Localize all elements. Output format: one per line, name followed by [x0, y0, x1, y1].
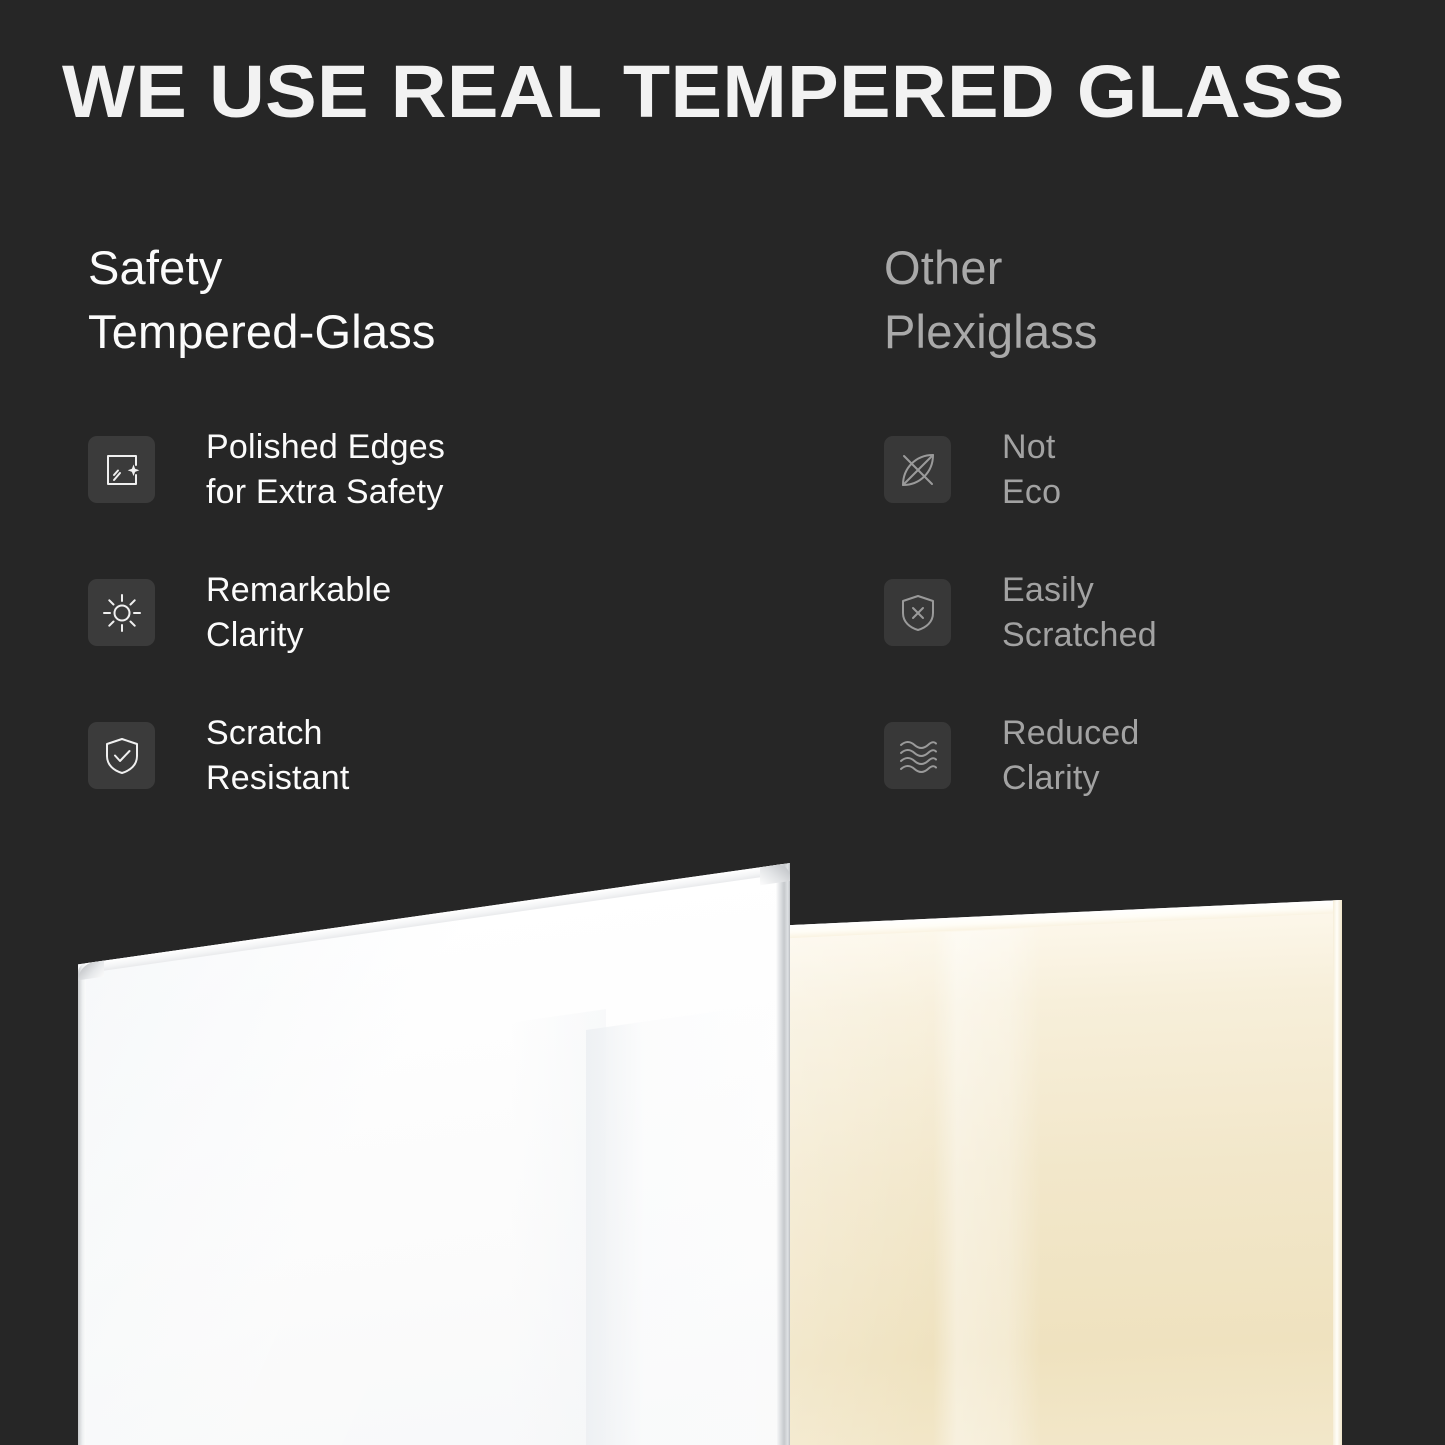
plexiglass-right-edge: [1333, 900, 1342, 1445]
tempered-glass-panel: [78, 863, 790, 1445]
glass-reflection: [586, 1003, 778, 1445]
polished-edge-sparkle-icon: [88, 436, 155, 503]
glass-polished-left-edge: [78, 963, 86, 1445]
tempered-glass-comparison-infographic: WE USE REAL TEMPERED GLASS Safety Temper…: [0, 0, 1445, 1445]
glass-polished-right-edge: [776, 863, 790, 1445]
product-photo: [0, 845, 1445, 1445]
leaf-crossed-out-icon: [884, 436, 951, 503]
wavy-lines-icon: [884, 722, 951, 789]
feature-row-easily-scratched: Easily Scratched: [884, 563, 1404, 663]
feature-list-plexiglass: Not Eco Easily Scratched: [884, 420, 1404, 806]
comparison-column-plexiglass: Other Plexiglass Not Eco: [884, 236, 1404, 849]
feature-label-not-eco: Not Eco: [1002, 425, 1061, 515]
feature-label-easily-scratched: Easily Scratched: [1002, 568, 1157, 658]
feature-row-polished-edges: Polished Edges for Extra Safety: [88, 420, 788, 520]
feature-row-scratch-resistant: Scratch Resistant: [88, 706, 788, 806]
feature-label-polished-edges: Polished Edges for Extra Safety: [206, 425, 445, 515]
feature-label-scratch-resistant: Scratch Resistant: [206, 711, 350, 801]
plexiglass-reflection: [933, 928, 1041, 1445]
comparison-column-tempered-glass: Safety Tempered-Glass Polished Edges for…: [88, 236, 788, 849]
plexiglass-panel: [790, 900, 1342, 1445]
feature-list-tempered-glass: Polished Edges for Extra Safety Remarkab…: [88, 420, 788, 806]
shield-check-icon: [88, 722, 155, 789]
page-title: WE USE REAL TEMPERED GLASS: [62, 44, 1445, 140]
feature-row-remarkable-clarity: Remarkable Clarity: [88, 563, 788, 663]
shield-x-icon: [884, 579, 951, 646]
feature-row-reduced-clarity: Reduced Clarity: [884, 706, 1404, 806]
column-heading-plexiglass: Other Plexiglass: [884, 236, 1404, 365]
feature-label-reduced-clarity: Reduced Clarity: [1002, 711, 1140, 801]
column-heading-tempered-glass: Safety Tempered-Glass: [88, 236, 788, 365]
glass-polished-top-edge: [78, 863, 790, 974]
feature-row-not-eco: Not Eco: [884, 420, 1404, 520]
feature-label-remarkable-clarity: Remarkable Clarity: [206, 568, 391, 658]
sun-brightness-icon: [88, 579, 155, 646]
plexiglass-top-edge: [790, 900, 1342, 938]
